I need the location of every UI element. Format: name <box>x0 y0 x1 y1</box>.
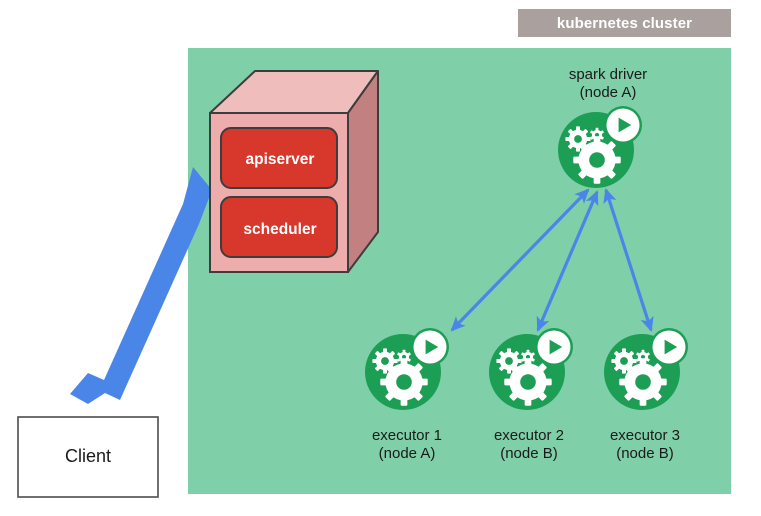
control-plane-cube <box>210 71 378 272</box>
spark-driver-caption-line2: (node A) <box>545 84 671 102</box>
executor-1-caption-line2: (node A) <box>344 445 470 463</box>
cluster-title-text: kubernetes cluster <box>557 15 692 32</box>
scheduler-label: scheduler <box>215 221 345 239</box>
diagram-canvas: kubernetes cluster apiserver scheduler s… <box>0 0 761 516</box>
executor-2-caption-line1: executor 2 <box>494 427 564 444</box>
executor-2-caption-line2: (node B) <box>466 445 592 463</box>
executor-3-caption-line1: executor 3 <box>610 427 680 444</box>
executor-3-caption-line2: (node B) <box>582 445 708 463</box>
executor-1-caption: executor 1 (node A) <box>344 427 470 463</box>
executor-1-caption-line1: executor 1 <box>372 427 442 444</box>
executor-2-caption: executor 2 (node B) <box>466 427 592 463</box>
executor-3-caption: executor 3 (node B) <box>582 427 708 463</box>
spark-driver-caption-line1: spark driver <box>569 66 647 83</box>
client-label: Client <box>18 446 158 467</box>
cluster-title-badge: kubernetes cluster <box>518 9 731 37</box>
apiserver-label: apiserver <box>215 151 345 169</box>
spark-driver-caption: spark driver (node A) <box>545 66 671 102</box>
